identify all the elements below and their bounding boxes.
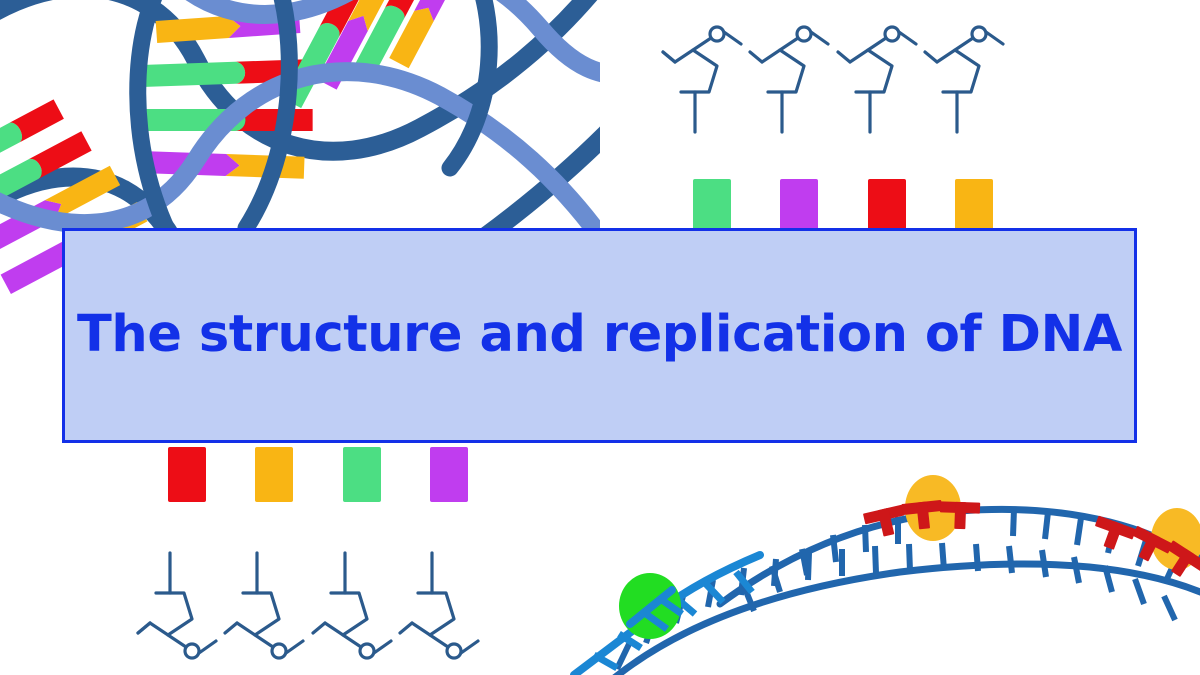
helix-barrel-edge-right2 — [450, 0, 489, 168]
slide-canvas: The structure and replication of DNA — [0, 0, 1200, 675]
title-card: The structure and replication of DNA — [62, 228, 1137, 443]
page-title: The structure and replication of DNA — [77, 307, 1122, 363]
